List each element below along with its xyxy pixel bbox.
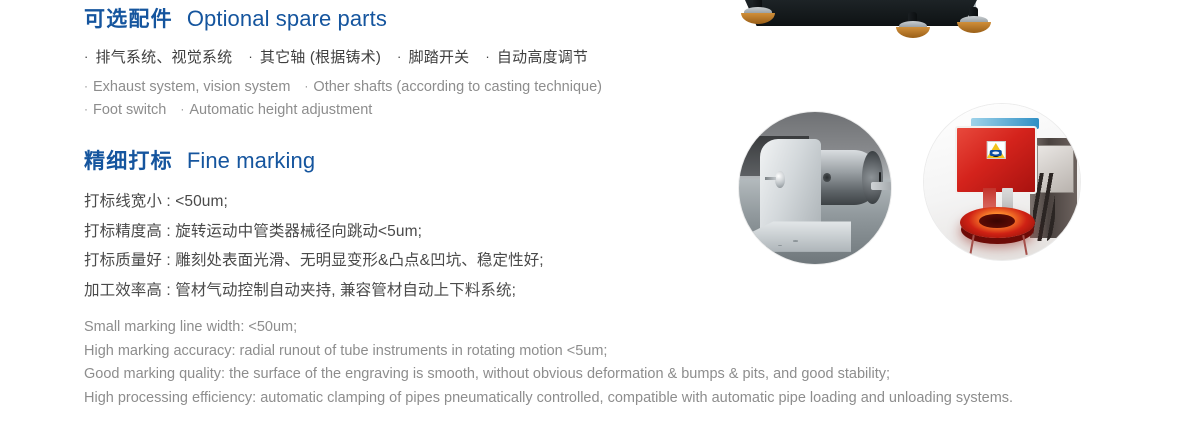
heading-cn-text: 可选配件	[84, 8, 173, 31]
bullet-item-cn: ·其它轴 (根据铸术)	[248, 49, 381, 66]
spec-lines-cn: 打标线宽小 : <50um; 打标精度高 : 旋转运动中管类器械径向跳动<5um…	[84, 187, 544, 305]
spec-line-en: High marking accuracy: radial runout of …	[84, 340, 1013, 364]
heading-en-text: Optional spare parts	[187, 6, 387, 31]
bullet-dot-icon: ·	[84, 49, 89, 64]
bullet-dot-icon: ·	[397, 49, 402, 64]
bullet-dot-icon: ·	[248, 49, 253, 64]
bullet-dot-icon: ·	[180, 102, 184, 116]
bullet-label-en: Other shafts (according to casting techn…	[313, 79, 602, 95]
bullets-en-optional: ·Exhaust system, vision system·Other sha…	[84, 76, 616, 122]
bullets-en-row: ·Exhaust system, vision system·Other sha…	[84, 76, 616, 99]
bullet-label-cn: 脚踏开关	[409, 49, 470, 66]
bullet-label-cn: 自动高度调节	[497, 49, 588, 66]
bullet-item-cn: ·脚踏开关	[397, 49, 469, 66]
spec-line-cn: 打标精度高 : 旋转运动中管类器械径向跳动<5um;	[84, 217, 544, 247]
bullet-label-en: Foot switch	[93, 102, 166, 118]
spec-line-en: High processing efficiency: automatic cl…	[84, 387, 1013, 411]
bullet-item-en: ·Automatic height adjustment	[180, 102, 372, 118]
heading-fine-marking: 精细打标Fine marking	[84, 150, 315, 172]
spec-line-cn: 打标线宽小 : <50um;	[84, 187, 544, 217]
bullet-item-cn: ·自动高度调节	[485, 49, 588, 66]
bullet-label-en: Exhaust system, vision system	[93, 79, 290, 95]
bullet-dot-icon: ·	[485, 49, 490, 64]
spec-line-en: Good marking quality: the surface of the…	[84, 363, 1013, 387]
bullet-dot-icon: ·	[304, 79, 308, 93]
bullet-label-en: Automatic height adjustment	[189, 102, 372, 118]
content-column: 可选配件Optional spare parts ·排气系统、视觉系统·其它轴 …	[84, 0, 1124, 427]
bullet-dot-icon: ·	[84, 79, 88, 93]
spec-line-en: Small marking line width: <50um;	[84, 316, 1013, 340]
bullet-item-cn: ·排气系统、视觉系统	[84, 49, 232, 66]
spec-lines-en: Small marking line width: <50um; High ma…	[84, 316, 1013, 410]
bullet-item-en: ·Other shafts (according to casting tech…	[304, 79, 602, 95]
bullet-item-en: ·Foot switch	[84, 102, 166, 118]
bullet-label-cn: 排气系统、视觉系统	[96, 49, 233, 66]
bullets-en-row: ·Foot switch·Automatic height adjustment	[84, 99, 616, 122]
bullet-item-en: ·Exhaust system, vision system	[84, 79, 290, 95]
heading-en-text: Fine marking	[187, 148, 315, 173]
heading-cn-text: 精细打标	[84, 150, 173, 173]
bullet-label-cn: 其它轴 (根据铸术)	[260, 49, 381, 66]
heading-optional-spare-parts: 可选配件Optional spare parts	[84, 8, 387, 30]
bullet-dot-icon: ·	[84, 102, 88, 116]
spec-line-cn: 加工效率高 : 管材气动控制自动夹持, 兼容管材自动上下料系统;	[84, 276, 544, 306]
spec-line-cn: 打标质量好 : 雕刻处表面光滑、无明显变形&凸点&凹坑、稳定性好;	[84, 246, 544, 276]
bullets-cn-optional: ·排气系统、视觉系统·其它轴 (根据铸术)·脚踏开关·自动高度调节	[84, 46, 604, 67]
